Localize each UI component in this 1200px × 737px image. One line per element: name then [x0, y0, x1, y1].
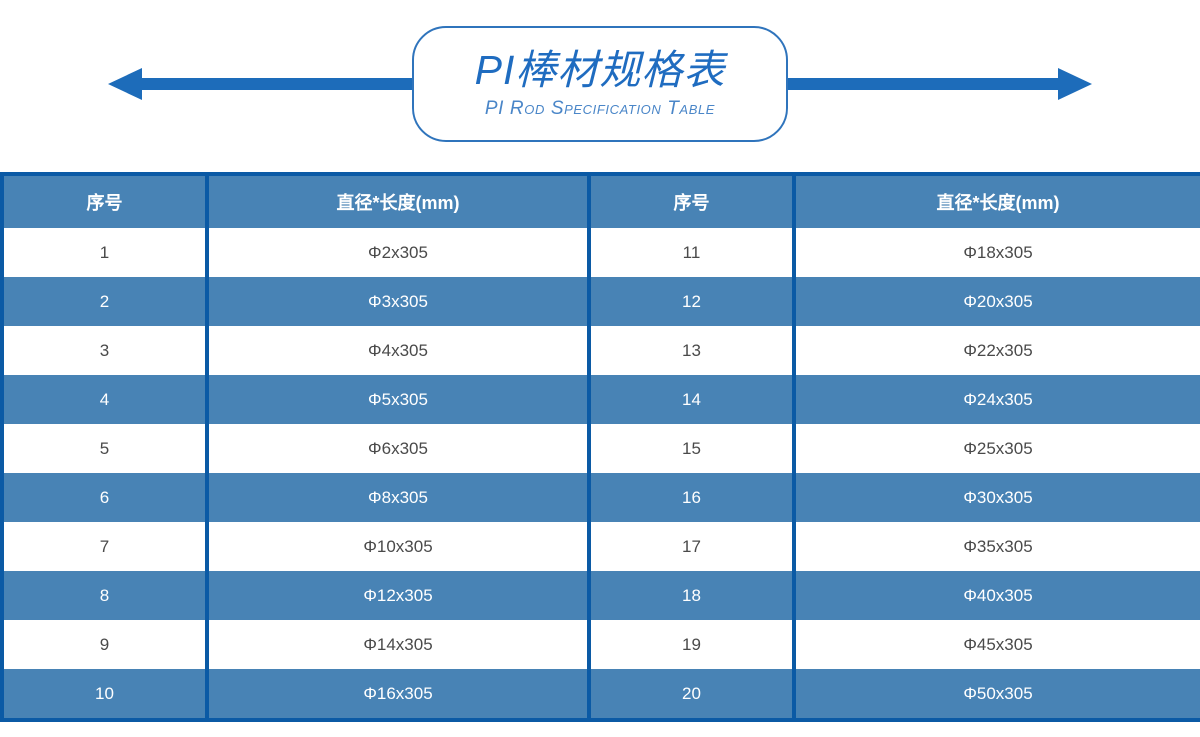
column-header-size-2: 直径*长度(mm): [794, 174, 1200, 228]
column-header-size-1: 直径*长度(mm): [207, 174, 589, 228]
cell-no-2: 16: [589, 473, 794, 522]
cell-size-2: Φ40x305: [794, 571, 1200, 620]
cell-size-1: Φ12x305: [207, 571, 589, 620]
cell-no-1: 7: [2, 522, 207, 571]
cell-size-1: Φ5x305: [207, 375, 589, 424]
cell-size-1: Φ10x305: [207, 522, 589, 571]
table-row: 6Φ8x30516Φ30x305: [2, 473, 1200, 522]
cell-size-1: Φ4x305: [207, 326, 589, 375]
table-row: 4Φ5x30514Φ24x305: [2, 375, 1200, 424]
table-row: 9Φ14x30519Φ45x305: [2, 620, 1200, 669]
cell-no-2: 11: [589, 228, 794, 277]
cell-size-2: Φ20x305: [794, 277, 1200, 326]
cell-size-2: Φ18x305: [794, 228, 1200, 277]
table-row: 8Φ12x30518Φ40x305: [2, 571, 1200, 620]
cell-no-2: 18: [589, 571, 794, 620]
right-arrow-icon: [782, 68, 1092, 100]
cell-no-1: 9: [2, 620, 207, 669]
cell-no-1: 6: [2, 473, 207, 522]
cell-no-2: 15: [589, 424, 794, 473]
page-title-en: PI Rod Specification Table: [485, 98, 715, 120]
cell-size-2: Φ25x305: [794, 424, 1200, 473]
table-row: 2Φ3x30512Φ20x305: [2, 277, 1200, 326]
cell-size-1: Φ3x305: [207, 277, 589, 326]
title-box: PI棒材规格表 PI Rod Specification Table: [412, 26, 788, 142]
table-row: 3Φ4x30513Φ22x305: [2, 326, 1200, 375]
cell-no-2: 17: [589, 522, 794, 571]
left-arrow-icon: [108, 68, 418, 100]
cell-size-1: Φ2x305: [207, 228, 589, 277]
cell-no-2: 14: [589, 375, 794, 424]
spec-table: 序号 直径*长度(mm) 序号 直径*长度(mm) 1Φ2x30511Φ18x3…: [0, 172, 1200, 722]
cell-no-2: 12: [589, 277, 794, 326]
cell-no-1: 1: [2, 228, 207, 277]
column-header-no-1: 序号: [2, 174, 207, 228]
spec-table-wrapper: 序号 直径*长度(mm) 序号 直径*长度(mm) 1Φ2x30511Φ18x3…: [0, 172, 1200, 722]
table-row: 7Φ10x30517Φ35x305: [2, 522, 1200, 571]
cell-no-1: 3: [2, 326, 207, 375]
cell-size-2: Φ50x305: [794, 669, 1200, 720]
cell-no-1: 2: [2, 277, 207, 326]
column-header-no-2: 序号: [589, 174, 794, 228]
page-title-cn: PI棒材规格表: [475, 48, 726, 92]
cell-no-1: 5: [2, 424, 207, 473]
cell-no-1: 8: [2, 571, 207, 620]
cell-size-2: Φ45x305: [794, 620, 1200, 669]
cell-no-1: 4: [2, 375, 207, 424]
cell-no-2: 20: [589, 669, 794, 720]
cell-size-2: Φ24x305: [794, 375, 1200, 424]
cell-no-2: 19: [589, 620, 794, 669]
cell-size-1: Φ14x305: [207, 620, 589, 669]
banner: PI棒材规格表 PI Rod Specification Table: [0, 0, 1200, 168]
table-body: 1Φ2x30511Φ18x3052Φ3x30512Φ20x3053Φ4x3051…: [2, 228, 1200, 720]
cell-no-1: 10: [2, 669, 207, 720]
cell-size-2: Φ30x305: [794, 473, 1200, 522]
cell-size-1: Φ16x305: [207, 669, 589, 720]
cell-size-2: Φ35x305: [794, 522, 1200, 571]
cell-size-1: Φ6x305: [207, 424, 589, 473]
cell-size-2: Φ22x305: [794, 326, 1200, 375]
cell-no-2: 13: [589, 326, 794, 375]
table-header-row: 序号 直径*长度(mm) 序号 直径*长度(mm): [2, 174, 1200, 228]
table-row: 5Φ6x30515Φ25x305: [2, 424, 1200, 473]
table-row: 10Φ16x30520Φ50x305: [2, 669, 1200, 720]
table-row: 1Φ2x30511Φ18x305: [2, 228, 1200, 277]
table-head: 序号 直径*长度(mm) 序号 直径*长度(mm): [2, 174, 1200, 228]
cell-size-1: Φ8x305: [207, 473, 589, 522]
